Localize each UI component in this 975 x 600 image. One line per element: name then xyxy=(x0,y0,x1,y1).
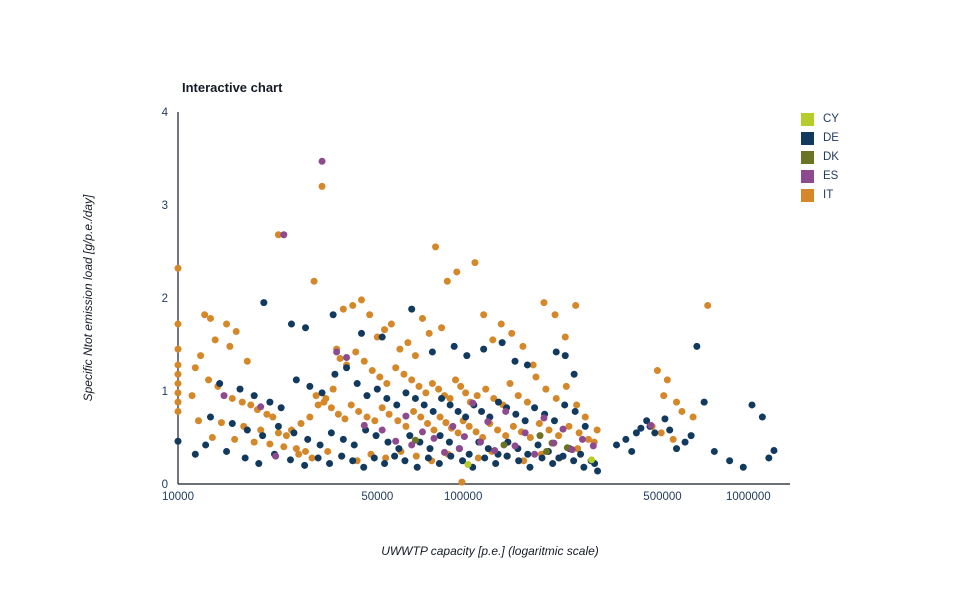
data-point[interactable] xyxy=(531,451,538,458)
data-point[interactable] xyxy=(319,183,326,190)
data-point[interactable] xyxy=(622,436,629,443)
data-point[interactable] xyxy=(524,399,531,406)
data-point[interactable] xyxy=(482,386,489,393)
data-point[interactable] xyxy=(384,439,391,446)
data-point[interactable] xyxy=(512,358,519,365)
data-point[interactable] xyxy=(302,448,309,455)
data-point[interactable] xyxy=(207,414,214,421)
data-point[interactable] xyxy=(491,447,498,454)
data-point[interactable] xyxy=(324,448,331,455)
data-point[interactable] xyxy=(408,306,415,313)
data-point[interactable] xyxy=(560,453,567,460)
data-point[interactable] xyxy=(613,441,620,448)
data-point[interactable] xyxy=(301,462,308,469)
data-point[interactable] xyxy=(661,415,668,422)
data-point[interactable] xyxy=(562,352,569,359)
data-point[interactable] xyxy=(257,403,264,410)
data-point[interactable] xyxy=(536,420,543,427)
data-point[interactable] xyxy=(471,259,478,266)
data-point[interactable] xyxy=(379,427,386,434)
data-point[interactable] xyxy=(522,417,529,424)
data-point[interactable] xyxy=(330,386,337,393)
data-point[interactable] xyxy=(759,414,766,421)
data-point[interactable] xyxy=(457,383,464,390)
data-point[interactable] xyxy=(295,451,302,458)
data-point[interactable] xyxy=(247,401,254,408)
data-point[interactable] xyxy=(549,460,556,467)
data-point[interactable] xyxy=(422,389,429,396)
data-point[interactable] xyxy=(394,417,401,424)
data-point[interactable] xyxy=(361,422,368,429)
data-point[interactable] xyxy=(524,451,531,458)
data-point[interactable] xyxy=(430,435,437,442)
data-point[interactable] xyxy=(628,448,635,455)
data-point[interactable] xyxy=(542,386,549,393)
data-point[interactable] xyxy=(437,432,444,439)
data-point[interactable] xyxy=(647,422,654,429)
data-point[interactable] xyxy=(395,445,402,452)
data-point[interactable] xyxy=(569,446,576,453)
data-point[interactable] xyxy=(463,352,470,359)
data-point[interactable] xyxy=(570,457,577,464)
data-point[interactable] xyxy=(571,371,578,378)
data-point[interactable] xyxy=(562,334,569,341)
data-point[interactable] xyxy=(269,414,276,421)
data-point[interactable] xyxy=(364,414,371,421)
data-point[interactable] xyxy=(175,361,182,368)
data-point[interactable] xyxy=(402,389,409,396)
data-point[interactable] xyxy=(673,445,680,452)
data-point[interactable] xyxy=(340,306,347,313)
data-point[interactable] xyxy=(381,326,388,333)
data-point[interactable] xyxy=(223,448,230,455)
data-point[interactable] xyxy=(400,371,407,378)
data-point[interactable] xyxy=(304,436,311,443)
data-point[interactable] xyxy=(441,449,448,456)
data-point[interactable] xyxy=(192,451,199,458)
data-point[interactable] xyxy=(373,432,380,439)
data-point[interactable] xyxy=(633,429,640,436)
data-point[interactable] xyxy=(426,330,433,337)
legend-item-cy[interactable]: CY xyxy=(801,110,891,129)
data-point[interactable] xyxy=(526,464,533,471)
data-point[interactable] xyxy=(508,330,515,337)
data-point[interactable] xyxy=(226,343,233,350)
data-point[interactable] xyxy=(485,445,492,452)
data-point[interactable] xyxy=(233,328,240,335)
data-point[interactable] xyxy=(337,355,344,362)
data-point[interactable] xyxy=(553,348,560,355)
data-point[interactable] xyxy=(175,389,182,396)
data-point[interactable] xyxy=(239,399,246,406)
data-point[interactable] xyxy=(473,428,480,435)
data-point[interactable] xyxy=(690,414,697,421)
data-point[interactable] xyxy=(229,420,236,427)
data-point[interactable] xyxy=(275,429,282,436)
data-point[interactable] xyxy=(413,453,420,460)
data-point[interactable] xyxy=(580,464,587,471)
data-point[interactable] xyxy=(540,414,547,421)
data-point[interactable] xyxy=(369,367,376,374)
data-point[interactable] xyxy=(331,371,338,378)
data-point[interactable] xyxy=(244,358,251,365)
data-point[interactable] xyxy=(383,380,390,387)
data-point[interactable] xyxy=(349,457,356,464)
data-point[interactable] xyxy=(504,453,511,460)
data-point[interactable] xyxy=(396,346,403,353)
data-point[interactable] xyxy=(447,401,454,408)
data-point[interactable] xyxy=(242,454,249,461)
data-point[interactable] xyxy=(539,454,546,461)
data-point[interactable] xyxy=(175,265,182,272)
data-point[interactable] xyxy=(458,479,465,486)
data-point[interactable] xyxy=(341,415,348,422)
data-point[interactable] xyxy=(475,454,482,461)
data-point[interactable] xyxy=(410,408,417,415)
data-point[interactable] xyxy=(218,419,225,426)
data-point[interactable] xyxy=(197,352,204,359)
data-point[interactable] xyxy=(195,417,202,424)
data-point[interactable] xyxy=(402,413,409,420)
data-point[interactable] xyxy=(175,380,182,387)
data-point[interactable] xyxy=(419,315,426,322)
data-point[interactable] xyxy=(492,460,499,467)
data-point[interactable] xyxy=(502,408,509,415)
data-point[interactable] xyxy=(551,417,558,424)
data-point[interactable] xyxy=(343,354,350,361)
data-point[interactable] xyxy=(381,460,388,467)
data-point[interactable] xyxy=(658,429,665,436)
data-point[interactable] xyxy=(328,429,335,436)
data-point[interactable] xyxy=(461,433,468,440)
data-point[interactable] xyxy=(582,423,589,430)
data-point[interactable] xyxy=(207,315,214,322)
data-point[interactable] xyxy=(500,441,507,448)
data-point[interactable] xyxy=(392,438,399,445)
data-point[interactable] xyxy=(272,453,279,460)
data-point[interactable] xyxy=(223,321,230,328)
data-point[interactable] xyxy=(351,441,358,448)
data-point[interactable] xyxy=(515,392,522,399)
data-point[interactable] xyxy=(701,399,708,406)
data-point[interactable] xyxy=(366,311,373,318)
data-point[interactable] xyxy=(354,380,361,387)
data-point[interactable] xyxy=(588,456,595,463)
data-point[interactable] xyxy=(437,414,444,421)
data-point[interactable] xyxy=(340,436,347,443)
data-point[interactable] xyxy=(495,399,502,406)
data-point[interactable] xyxy=(561,401,568,408)
data-point[interactable] xyxy=(175,438,182,445)
data-point[interactable] xyxy=(408,376,415,383)
data-point[interactable] xyxy=(175,399,182,406)
data-point[interactable] xyxy=(358,296,365,303)
series-DE[interactable] xyxy=(175,299,778,474)
data-point[interactable] xyxy=(446,439,453,446)
data-point[interactable] xyxy=(212,336,219,343)
data-point[interactable] xyxy=(317,441,324,448)
data-point[interactable] xyxy=(306,414,313,421)
data-point[interactable] xyxy=(740,464,747,471)
data-point[interactable] xyxy=(319,158,326,165)
data-point[interactable] xyxy=(275,423,282,430)
series-IT[interactable] xyxy=(175,183,712,486)
data-point[interactable] xyxy=(572,408,579,415)
data-point[interactable] xyxy=(474,392,481,399)
data-point[interactable] xyxy=(770,447,777,454)
data-point[interactable] xyxy=(515,457,522,464)
data-point[interactable] xyxy=(537,432,544,439)
data-point[interactable] xyxy=(469,400,476,407)
data-point[interactable] xyxy=(519,343,526,350)
data-point[interactable] xyxy=(287,456,294,463)
data-point[interactable] xyxy=(376,374,383,381)
data-point[interactable] xyxy=(590,442,597,449)
data-point[interactable] xyxy=(392,364,399,371)
data-point[interactable] xyxy=(283,432,290,439)
data-point[interactable] xyxy=(582,414,589,421)
data-point[interactable] xyxy=(259,432,266,439)
data-point[interactable] xyxy=(255,460,262,467)
data-point[interactable] xyxy=(436,460,443,467)
data-point[interactable] xyxy=(660,392,667,399)
data-point[interactable] xyxy=(540,299,547,306)
data-point[interactable] xyxy=(711,448,718,455)
data-point[interactable] xyxy=(555,432,562,439)
data-point[interactable] xyxy=(391,453,398,460)
data-point[interactable] xyxy=(251,392,258,399)
data-point[interactable] xyxy=(251,439,258,446)
data-point[interactable] xyxy=(404,339,411,346)
data-point[interactable] xyxy=(298,420,305,427)
data-point[interactable] xyxy=(361,358,368,365)
data-point[interactable] xyxy=(386,411,393,418)
data-point[interactable] xyxy=(462,389,469,396)
data-point[interactable] xyxy=(425,454,432,461)
legend-item-de[interactable]: DE xyxy=(801,129,891,148)
data-point[interactable] xyxy=(360,464,367,471)
data-point[interactable] xyxy=(462,414,469,421)
data-point[interactable] xyxy=(531,404,538,411)
data-point[interactable] xyxy=(393,401,400,408)
plot-area[interactable]: 0123410000500001000005000001000000UWWTP … xyxy=(0,0,975,600)
data-point[interactable] xyxy=(338,453,345,460)
data-point[interactable] xyxy=(175,321,182,328)
data-point[interactable] xyxy=(313,392,320,399)
data-point[interactable] xyxy=(328,404,335,411)
data-point[interactable] xyxy=(412,352,419,359)
legend-item-it[interactable]: IT xyxy=(801,186,891,205)
data-point[interactable] xyxy=(560,426,567,433)
data-point[interactable] xyxy=(237,386,244,393)
chart-legend[interactable]: CYDEDKESIT xyxy=(801,110,891,205)
data-point[interactable] xyxy=(444,278,451,285)
data-point[interactable] xyxy=(480,346,487,353)
data-point[interactable] xyxy=(349,302,356,309)
series-ES[interactable] xyxy=(221,158,655,460)
data-point[interactable] xyxy=(244,427,251,434)
data-point[interactable] xyxy=(553,395,560,402)
data-point[interactable] xyxy=(175,408,182,415)
data-point[interactable] xyxy=(288,321,295,328)
data-point[interactable] xyxy=(576,429,583,436)
data-point[interactable] xyxy=(221,392,228,399)
data-point[interactable] xyxy=(532,374,539,381)
data-point[interactable] xyxy=(358,330,365,337)
data-point[interactable] xyxy=(453,268,460,275)
data-point[interactable] xyxy=(308,454,315,461)
data-point[interactable] xyxy=(765,454,772,461)
data-point[interactable] xyxy=(466,451,473,458)
data-point[interactable] xyxy=(302,324,309,331)
data-point[interactable] xyxy=(489,336,496,343)
data-point[interactable] xyxy=(415,383,422,390)
data-point[interactable] xyxy=(202,441,209,448)
data-point[interactable] xyxy=(201,311,208,318)
data-point[interactable] xyxy=(449,423,456,430)
data-point[interactable] xyxy=(512,411,519,418)
data-point[interactable] xyxy=(280,443,287,450)
data-point[interactable] xyxy=(432,243,439,250)
data-point[interactable] xyxy=(673,399,680,406)
data-point[interactable] xyxy=(651,429,658,436)
data-point[interactable] xyxy=(438,324,445,331)
data-point[interactable] xyxy=(335,411,342,418)
data-point[interactable] xyxy=(306,383,313,390)
data-point[interactable] xyxy=(678,408,685,415)
data-point[interactable] xyxy=(424,420,431,427)
data-point[interactable] xyxy=(216,380,223,387)
data-point[interactable] xyxy=(315,454,322,461)
data-point[interactable] xyxy=(664,376,671,383)
data-point[interactable] xyxy=(388,321,395,328)
data-point[interactable] xyxy=(572,302,579,309)
data-point[interactable] xyxy=(552,311,559,318)
data-point[interactable] xyxy=(371,417,378,424)
data-point[interactable] xyxy=(481,454,488,461)
data-point[interactable] xyxy=(343,364,350,371)
data-point[interactable] xyxy=(429,348,436,355)
legend-item-es[interactable]: ES xyxy=(801,167,891,186)
data-point[interactable] xyxy=(563,383,570,390)
data-point[interactable] xyxy=(438,395,445,402)
data-point[interactable] xyxy=(507,380,514,387)
data-point[interactable] xyxy=(175,371,182,378)
data-point[interactable] xyxy=(455,429,462,436)
data-point[interactable] xyxy=(430,427,437,434)
data-point[interactable] xyxy=(577,451,584,458)
data-point[interactable] xyxy=(524,361,531,368)
data-point[interactable] xyxy=(280,231,287,238)
data-point[interactable] xyxy=(231,436,238,443)
data-point[interactable] xyxy=(266,441,273,448)
data-point[interactable] xyxy=(465,461,472,468)
data-point[interactable] xyxy=(726,457,733,464)
data-point[interactable] xyxy=(352,348,359,355)
data-point[interactable] xyxy=(290,429,297,436)
data-point[interactable] xyxy=(451,343,458,350)
data-point[interactable] xyxy=(330,311,337,318)
data-point[interactable] xyxy=(260,299,267,306)
data-point[interactable] xyxy=(192,364,199,371)
data-point[interactable] xyxy=(594,467,601,474)
data-point[interactable] xyxy=(502,432,509,439)
data-point[interactable] xyxy=(374,386,381,393)
data-point[interactable] xyxy=(326,460,333,467)
data-point[interactable] xyxy=(579,436,586,443)
data-point[interactable] xyxy=(666,427,673,434)
data-point[interactable] xyxy=(229,395,236,402)
data-point[interactable] xyxy=(498,321,505,328)
data-point[interactable] xyxy=(319,389,326,396)
data-point[interactable] xyxy=(205,376,212,383)
data-point[interactable] xyxy=(682,439,689,446)
data-point[interactable] xyxy=(466,423,473,430)
data-point[interactable] xyxy=(693,343,700,350)
data-point[interactable] xyxy=(510,423,517,430)
data-point[interactable] xyxy=(379,334,386,341)
data-point[interactable] xyxy=(543,448,550,455)
data-point[interactable] xyxy=(435,386,442,393)
data-point[interactable] xyxy=(477,439,484,446)
data-point[interactable] xyxy=(704,302,711,309)
data-point[interactable] xyxy=(401,457,408,464)
data-point[interactable] xyxy=(447,453,454,460)
data-point[interactable] xyxy=(550,440,557,447)
data-point[interactable] xyxy=(417,414,424,421)
data-point[interactable] xyxy=(320,399,327,406)
data-point[interactable] xyxy=(209,434,216,441)
data-point[interactable] xyxy=(688,432,695,439)
data-point[interactable] xyxy=(447,395,454,402)
data-point[interactable] xyxy=(430,408,437,415)
data-point[interactable] xyxy=(402,423,409,430)
data-point[interactable] xyxy=(429,380,436,387)
data-point[interactable] xyxy=(311,278,318,285)
data-point[interactable] xyxy=(175,346,182,353)
data-point[interactable] xyxy=(348,401,355,408)
legend-item-dk[interactable]: DK xyxy=(801,148,891,167)
data-point[interactable] xyxy=(455,408,462,415)
data-point[interactable] xyxy=(419,428,426,435)
data-point[interactable] xyxy=(499,339,506,346)
data-point[interactable] xyxy=(364,392,371,399)
data-point[interactable] xyxy=(670,436,677,443)
data-point[interactable] xyxy=(406,432,413,439)
data-point[interactable] xyxy=(494,427,501,434)
data-point[interactable] xyxy=(266,399,273,406)
data-point[interactable] xyxy=(573,401,580,408)
data-point[interactable] xyxy=(565,423,572,430)
data-point[interactable] xyxy=(293,376,300,383)
data-point[interactable] xyxy=(355,408,362,415)
data-point[interactable] xyxy=(478,408,485,415)
data-point[interactable] xyxy=(426,445,433,452)
data-point[interactable] xyxy=(456,445,463,452)
data-point[interactable] xyxy=(371,454,378,461)
data-point[interactable] xyxy=(480,311,487,318)
data-point[interactable] xyxy=(414,464,421,471)
data-point[interactable] xyxy=(408,441,415,448)
data-point[interactable] xyxy=(594,427,601,434)
data-point[interactable] xyxy=(278,404,285,411)
data-point[interactable] xyxy=(412,395,419,402)
data-point[interactable] xyxy=(535,441,542,448)
data-point[interactable] xyxy=(512,442,519,449)
data-point[interactable] xyxy=(442,419,449,426)
data-point[interactable] xyxy=(452,376,459,383)
data-point[interactable] xyxy=(748,401,755,408)
